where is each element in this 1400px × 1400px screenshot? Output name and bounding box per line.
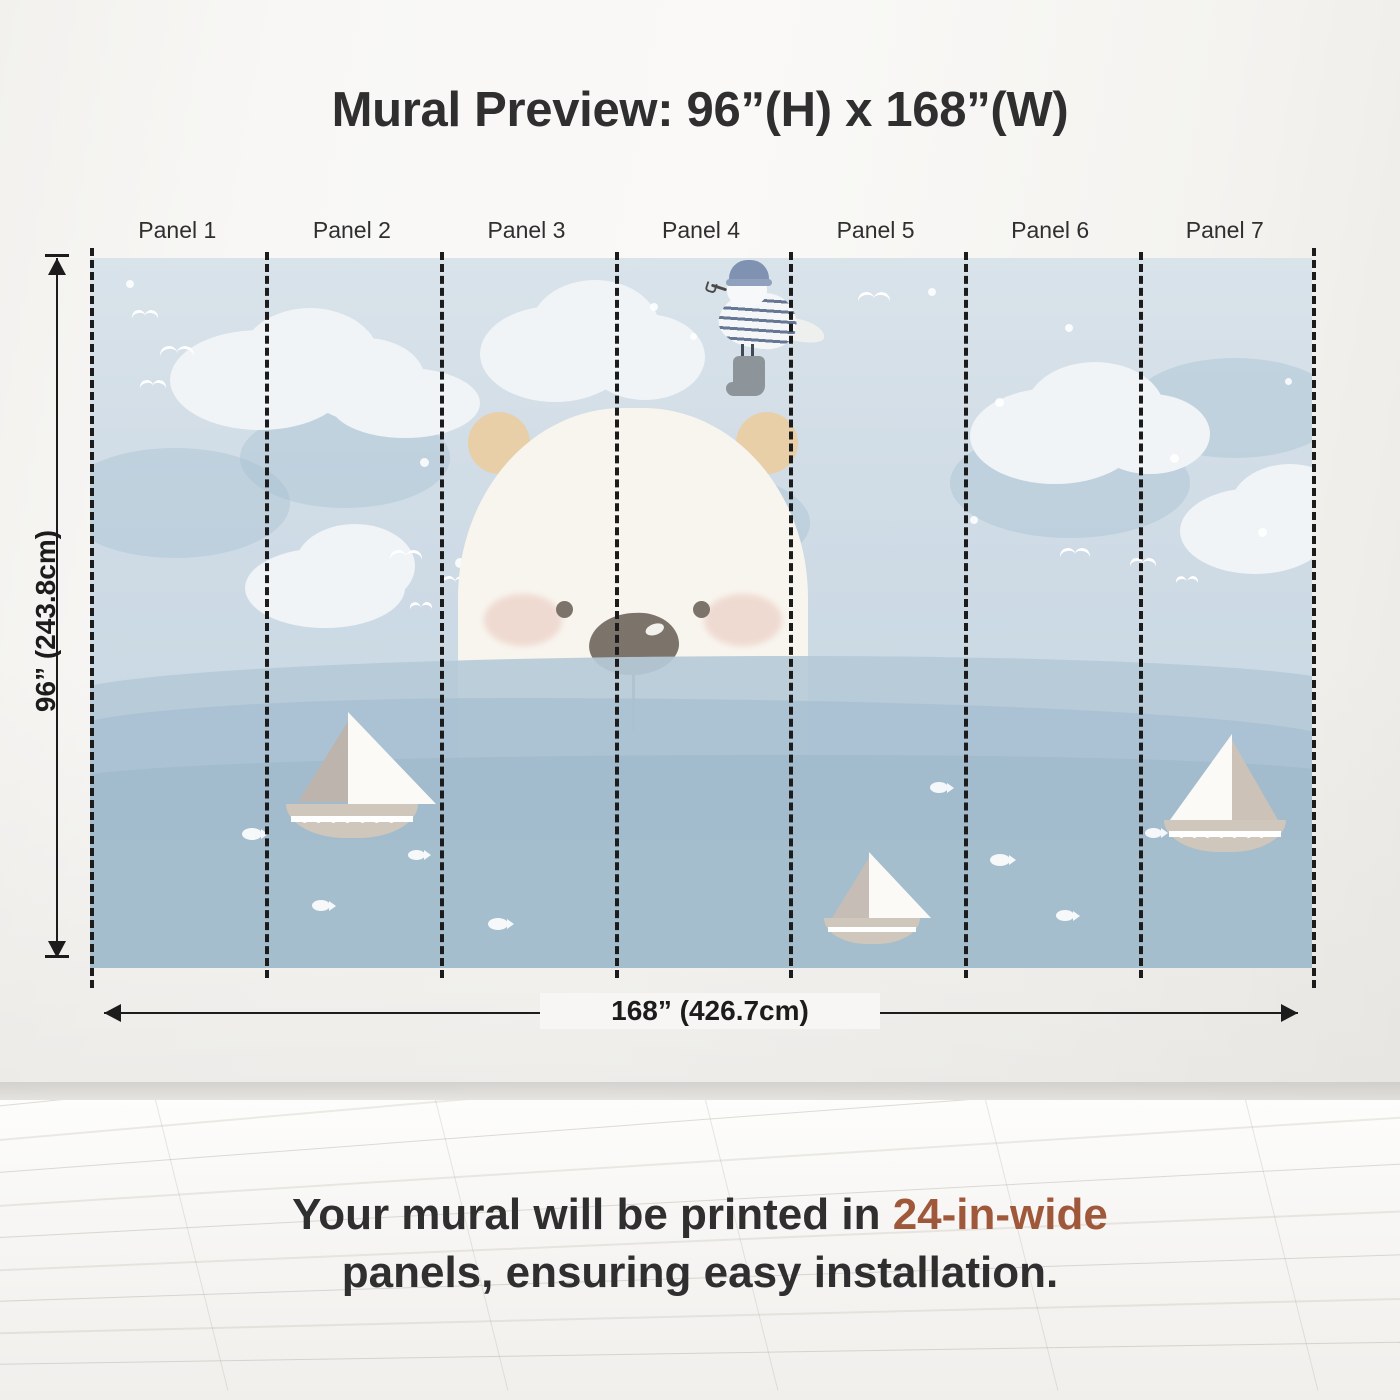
caption-line1-before: Your mural will be printed in <box>292 1190 893 1239</box>
seagull-icon <box>1060 548 1090 562</box>
floor-plank-line <box>0 1100 1400 1176</box>
seagull-pipe <box>711 284 727 292</box>
sailboat-back-sail <box>298 718 350 802</box>
floor-plank-line <box>0 1100 1400 1147</box>
sailboat-right <box>1160 730 1290 846</box>
bear-blush-right <box>704 594 782 646</box>
caption-accent: 24-in-wide <box>893 1190 1108 1239</box>
height-dimension-label: 96” (243.8cm) <box>30 491 62 751</box>
seagull-icon <box>858 292 890 307</box>
sailboat-back-sail <box>832 856 870 918</box>
seagull-icon <box>160 346 194 362</box>
panel-divider-4-5 <box>789 252 793 978</box>
sky-dot <box>1170 454 1179 463</box>
fish <box>408 850 425 860</box>
sailboat-back-sail <box>1232 740 1278 820</box>
panel-divider-1-2 <box>265 252 269 978</box>
panel-label-4: Panel 4 <box>614 215 789 249</box>
sailboat-front-sail <box>348 712 436 804</box>
fish <box>488 918 508 930</box>
height-dimension-cap-top <box>45 254 69 257</box>
panel-label-row: Panel 1 Panel 2 Panel 3 Panel 4 Panel 5 … <box>90 215 1312 249</box>
sky-dot <box>126 280 134 288</box>
sky-dot <box>420 458 429 467</box>
sky-dot <box>1258 528 1267 537</box>
cloud <box>1090 394 1210 474</box>
panel-divider-5-6 <box>964 252 968 978</box>
panel-divider-right-edge <box>1312 248 1316 988</box>
fish <box>990 854 1010 866</box>
seagull-icon <box>132 310 158 323</box>
water-layer-4 <box>90 840 1312 968</box>
sailboat-front-sail <box>869 852 931 918</box>
floor-plank-line <box>0 1332 1400 1371</box>
panel-divider-6-7 <box>1139 252 1143 978</box>
sailboat-left <box>280 710 420 830</box>
panel-label-1: Panel 1 <box>90 215 265 249</box>
seagull-icon <box>1176 576 1198 587</box>
sky-dot <box>650 303 658 311</box>
sky-dot <box>995 398 1004 407</box>
sky-dot <box>928 288 936 296</box>
panel-divider-left-edge <box>90 248 94 988</box>
page-title: Mural Preview: 96”(H) x 168”(W) <box>0 82 1400 138</box>
caption-line2: panels, ensuring easy installation. <box>342 1248 1058 1297</box>
width-dimension-label: 168” (426.7cm) <box>540 993 880 1029</box>
seagull-rain-boots <box>733 356 765 396</box>
sailboat-hull <box>824 918 920 944</box>
seagull-beanie-hat <box>729 260 769 282</box>
fish <box>312 900 330 911</box>
installation-caption: Your mural will be printed in 24-in-wide… <box>0 1186 1400 1302</box>
fish <box>1056 910 1074 921</box>
bear-nose-highlight <box>644 621 666 638</box>
panel-label-6: Panel 6 <box>963 215 1138 249</box>
bear-eye-left <box>556 601 573 618</box>
sky-dot <box>1285 378 1292 385</box>
floor-plank-line <box>0 1100 1400 1120</box>
sky-dot <box>690 333 697 340</box>
panel-divider-3-4 <box>615 252 619 978</box>
seagull-sailor-illustration <box>707 262 823 404</box>
seagull-icon <box>140 380 166 393</box>
panel-label-5: Panel 5 <box>788 215 963 249</box>
panel-label-7: Panel 7 <box>1137 215 1312 249</box>
bear-blush-left <box>484 594 562 646</box>
panel-divider-2-3 <box>440 252 444 978</box>
seagull-icon <box>390 550 422 565</box>
fish <box>930 782 948 793</box>
sailboat-center <box>820 850 920 942</box>
bear-eye-right <box>693 601 710 618</box>
fish <box>242 828 262 840</box>
seagull-icon <box>410 602 432 613</box>
sky-dot <box>1065 324 1073 332</box>
panel-label-3: Panel 3 <box>439 215 614 249</box>
panel-label-2: Panel 2 <box>265 215 440 249</box>
sailboat-front-sail <box>1170 734 1232 820</box>
sky-dot <box>970 516 978 524</box>
mural-preview-artwork <box>90 258 1312 968</box>
seagull-icon <box>1130 558 1156 571</box>
cloud <box>585 314 705 400</box>
